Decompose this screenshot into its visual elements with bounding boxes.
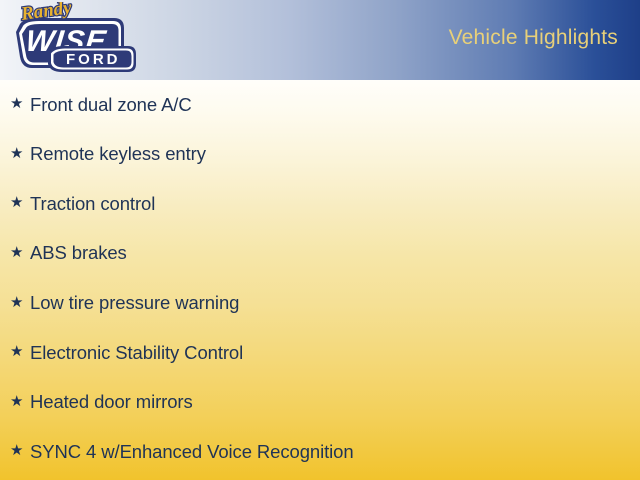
list-item: ★ SYNC 4 w/Enhanced Voice Recognition: [0, 427, 640, 477]
svg-text:FORD: FORD: [66, 51, 121, 68]
list-item: ★ Remote keyless entry: [0, 130, 640, 180]
randy-wise-ford-logo: WISE FORD Randy Randy: [6, 2, 138, 78]
highlight-label: Remote keyless entry: [30, 145, 206, 164]
list-item: ★ Electronic Stability Control: [0, 328, 640, 378]
highlight-label: SYNC 4 w/Enhanced Voice Recognition: [30, 443, 354, 462]
star-bullet-icon: ★: [10, 146, 30, 161]
list-item: ★ Heated door mirrors: [0, 378, 640, 428]
highlight-label: Low tire pressure warning: [30, 294, 239, 313]
star-bullet-icon: ★: [10, 295, 30, 310]
star-bullet-icon: ★: [10, 96, 30, 111]
star-bullet-icon: ★: [10, 394, 30, 409]
highlight-label: ABS brakes: [30, 244, 127, 263]
list-item: ★ Front dual zone A/C: [0, 80, 640, 130]
slide-header: WISE FORD Randy Randy Vehicle Highlights: [0, 0, 640, 80]
highlight-label: Heated door mirrors: [30, 393, 193, 412]
list-item: ★ Traction control: [0, 179, 640, 229]
highlight-label: Electronic Stability Control: [30, 344, 243, 363]
highlight-label: Front dual zone A/C: [30, 96, 192, 115]
list-item: ★ ABS brakes: [0, 229, 640, 279]
star-bullet-icon: ★: [10, 245, 30, 260]
page-title: Vehicle Highlights: [449, 26, 618, 50]
star-bullet-icon: ★: [10, 195, 30, 210]
list-item: ★ Low tire pressure warning: [0, 278, 640, 328]
star-bullet-icon: ★: [10, 344, 30, 359]
highlights-body: ★ Front dual zone A/C ★ Remote keyless e…: [0, 80, 640, 480]
highlight-label: Traction control: [30, 195, 155, 214]
vehicle-highlights-slide: WISE FORD Randy Randy Vehicle Highlights…: [0, 0, 640, 480]
vehicle-highlights-list: ★ Front dual zone A/C ★ Remote keyless e…: [0, 80, 640, 477]
star-bullet-icon: ★: [10, 443, 30, 458]
